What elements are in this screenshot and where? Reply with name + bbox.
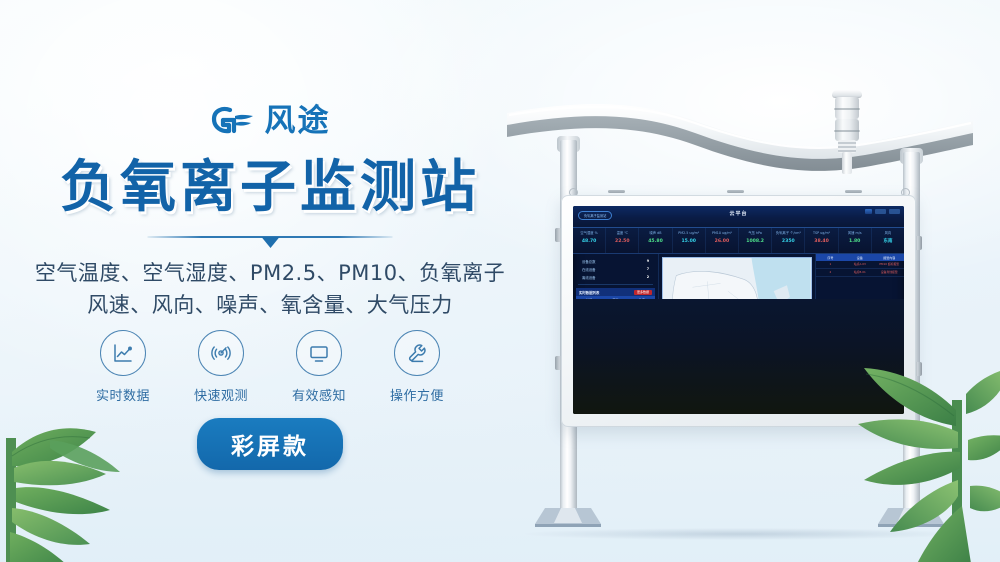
stat-label: 设备总数 (582, 259, 596, 264)
top-vent (608, 190, 625, 193)
metric-value: 15.00 (673, 240, 705, 245)
top-vent (727, 190, 744, 193)
alarm-column-header: 报警内容 (875, 254, 904, 261)
device-stat-row: 离线设备2 (576, 273, 655, 281)
metric-value: 1.80 (839, 240, 871, 245)
subtitle-line-1: 空气温度、空气湿度、PM2.5、PM10、负氧离子 (0, 258, 540, 290)
base-plate-right (876, 508, 946, 530)
metric-label: 负氧离子 个/cm³ (772, 232, 804, 236)
metric-value: 东南 (872, 240, 904, 245)
alarm-column-header: 序号 (816, 254, 845, 261)
feature-label: 快速观测 (185, 385, 257, 404)
metric-tile[interactable]: 风速 m/s1.80 (839, 228, 872, 253)
feature-label: 有效感知 (283, 385, 355, 404)
alarm-panel: 序号设备报警内容 1站点A-03PM10 超标报警2站点B-01设备离线报警 (815, 254, 904, 414)
product-illustration: 负氧离子监测站 云平台 空气湿度 %48.70温度 ℃22.50噪声 dB45.… (505, 40, 985, 540)
leaf-g-logo-icon (210, 104, 256, 138)
metric-value: 1008.2 (739, 240, 771, 245)
alarm-row-list[interactable]: 1站点A-03PM10 超标报警2站点B-01设备离线报警 (816, 261, 904, 277)
base-plate-left (533, 508, 603, 530)
metric-tile[interactable]: TSP ug/m³38.40 (805, 228, 838, 253)
metric-tile[interactable]: PM2.5 ug/m³15.00 (673, 228, 706, 253)
alarm-row[interactable]: 2站点B-01设备离线报警 (816, 269, 904, 277)
hero-subtitle: 空气温度、空气湿度、PM2.5、PM10、负氧离子 风速、风向、噪声、氧含量、大… (0, 258, 540, 322)
ultrasonic-weather-sensor-icon (827, 90, 867, 170)
metric-value: 22.50 (606, 240, 638, 245)
panel-dark-area (573, 299, 904, 414)
alarm-cell: PM10 超标报警 (875, 261, 904, 268)
model-badge[interactable]: 彩屏款 (197, 418, 343, 470)
metric-label: PM10 ug/m³ (706, 232, 738, 236)
station-pill[interactable]: 负氧离子监测站 (578, 211, 612, 220)
line-chart-icon (100, 330, 146, 376)
metric-value: 45.80 (639, 240, 671, 245)
metric-value: 2350 (772, 240, 804, 245)
stat-value: 7 (647, 267, 649, 271)
feature-item-easy-operation[interactable]: 操作方便 (381, 330, 453, 404)
feature-item-realtime-data[interactable]: 实时数据 (87, 330, 159, 404)
page-title: 负氧离子监测站 (0, 158, 540, 218)
alarm-cell: 站点B-01 (845, 269, 874, 276)
poster-stage: 风途 负氧离子监测站 空气温度、空气湿度、PM2.5、PM10、负氧离子 风速、… (0, 0, 1000, 562)
alarm-column-header: 设备 (845, 254, 874, 261)
alarm-column-headers: 序号设备报警内容 (816, 254, 904, 261)
ground-shadow (525, 528, 955, 540)
subtitle-line-2: 风速、风向、噪声、氧含量、大气压力 (0, 290, 540, 322)
dashboard-body: 设备总数9在线设备7离线设备2 实时数据列表 更多数据 时间要素数值 2023-… (573, 254, 904, 414)
feature-label: 实时数据 (87, 385, 159, 404)
display-enclosure: 负氧离子监测站 云平台 空气湿度 %48.70温度 ℃22.50噪声 dB45.… (561, 195, 916, 427)
chart-icon[interactable] (865, 209, 872, 214)
stat-label: 离线设备 (582, 275, 596, 280)
sensor-ring (834, 130, 860, 132)
metric-label: 风速 m/s (839, 232, 871, 236)
metric-value: 26.00 (706, 240, 738, 245)
stat-value: 9 (647, 259, 649, 263)
monitor-icon (296, 330, 342, 376)
table-title: 实时数据列表 (579, 290, 599, 295)
sensor-ring (834, 108, 860, 110)
stat-label: 在线设备 (582, 267, 596, 272)
metric-tile[interactable]: 噪声 dB45.80 (639, 228, 672, 253)
alarm-row[interactable]: 1站点A-03PM10 超标报警 (816, 261, 904, 269)
metric-tile[interactable]: 风向东南 (872, 228, 904, 253)
feature-item-fast-observation[interactable]: 快速观测 (185, 330, 257, 404)
user-icon[interactable] (889, 209, 900, 214)
dashboard-title: 云平台 (729, 210, 747, 217)
feature-item-effective-sensing[interactable]: 有效感知 (283, 330, 355, 404)
metric-label: 风向 (872, 232, 904, 236)
dashboard-header: 负氧离子监测站 云平台 (573, 206, 904, 228)
alarm-cell: 站点A-03 (845, 261, 874, 268)
wrench-icon (394, 330, 440, 376)
stat-value: 2 (647, 275, 649, 279)
more-data-button[interactable]: 更多数据 (634, 290, 652, 295)
alarm-cell: 2 (816, 269, 845, 276)
title-divider (148, 233, 393, 249)
metric-tile[interactable]: 负氧离子 个/cm³2350 (772, 228, 805, 253)
metric-label: 气压 hPa (739, 232, 771, 236)
radar-signal-icon (198, 330, 244, 376)
grid-icon[interactable] (875, 209, 886, 214)
metric-value: 48.70 (573, 240, 605, 245)
metric-tile[interactable]: 气压 hPa1008.2 (739, 228, 772, 253)
metric-label: 噪声 dB (639, 232, 671, 236)
device-stat-list: 设备总数9在线设备7离线设备2 (576, 257, 655, 281)
alarm-cell: 设备离线报警 (875, 269, 904, 276)
feature-list: 实时数据 快速观测 (0, 330, 540, 404)
dashboard-ui: 负氧离子监测站 云平台 空气湿度 %48.70温度 ℃22.50噪声 dB45.… (573, 206, 904, 414)
metric-label: 温度 ℃ (606, 232, 638, 236)
sensor-stem (842, 152, 852, 174)
device-stat-row: 在线设备7 (576, 265, 655, 273)
metric-label: PM2.5 ug/m³ (673, 232, 705, 236)
metric-tile[interactable]: PM10 ug/m³26.00 (706, 228, 739, 253)
metric-value: 38.40 (805, 240, 837, 245)
brand-name: 风途 (265, 106, 331, 137)
header-icon-group[interactable] (865, 209, 900, 214)
lcd-screen[interactable]: 负氧离子监测站 云平台 空气湿度 %48.70温度 ℃22.50噪声 dB45.… (573, 206, 904, 414)
metric-label: TSP ug/m³ (805, 232, 837, 236)
brand-logo: 风途 (0, 104, 540, 138)
metric-label: 空气湿度 % (573, 232, 605, 236)
top-vent (845, 190, 862, 193)
divider-caret-icon (261, 237, 279, 248)
divider (578, 284, 653, 285)
hero-text-column: 风途 负氧离子监测站 空气温度、空气湿度、PM2.5、PM10、负氧离子 风速、… (0, 0, 540, 562)
metric-tile-row: 空气湿度 %48.70温度 ℃22.50噪声 dB45.80PM2.5 ug/m… (573, 228, 904, 254)
metric-tile[interactable]: 空气湿度 %48.70 (573, 228, 606, 253)
data-table-header: 实时数据列表 更多数据 (576, 288, 655, 296)
alarm-cell: 1 (816, 261, 845, 268)
feature-label: 操作方便 (381, 385, 453, 404)
metric-tile[interactable]: 温度 ℃22.50 (606, 228, 639, 253)
device-stat-row: 设备总数9 (576, 257, 655, 265)
